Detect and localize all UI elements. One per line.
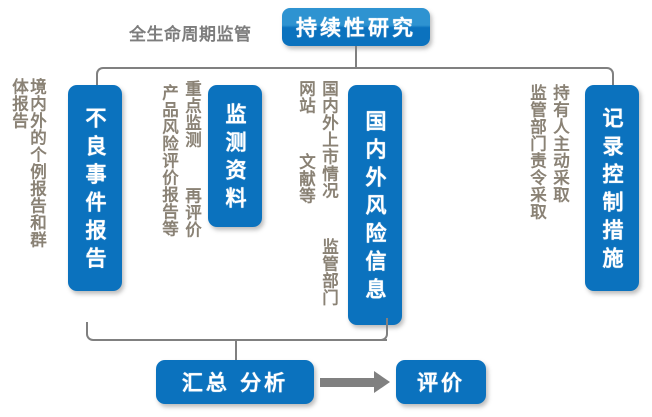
node-risk-information[interactable]: 国内外风险信息 [348,85,402,325]
arrow-head-icon [374,371,390,393]
node-summary-analysis[interactable]: 汇总 分析 [156,360,314,404]
node-record-control-measures[interactable]: 记录控制措施 [585,85,639,291]
caption-branch3-line2: 网站 文献等 [297,80,314,220]
caption-branch3-line1: 国内外上市情况 监管部门 [320,80,337,330]
arrow-shaft [320,378,376,387]
connector-bottom-right-riser [386,318,388,328]
connector-top-bracket [103,67,607,69]
caption-branch2-line2: 产品风险评价报告等 [160,84,177,279]
connector-bottom-bracket [93,339,387,341]
flow-arrow [320,371,392,393]
caption-branch4-line2: 监管部门责令采取 [528,84,545,234]
root-node-continuous-research[interactable]: 持续性研究 [282,8,430,46]
node-monitoring-data[interactable]: 监测资料 [208,85,262,227]
node-evaluation[interactable]: 评价 [396,360,486,404]
node-adverse-event-report[interactable]: 不良事件报告 [68,85,122,291]
connector-root-drop [355,46,357,68]
lifecycle-supervision-label: 全生命周期监管 [129,20,252,45]
connector-summary-drop [235,339,237,360]
diagram-canvas: 全生命周期监管 持续性研究 境内外的个例报告和群 体报告 不良事件报告 重点监测… [0,0,652,417]
caption-branch2-line1: 重点监测 再评价 [183,80,200,230]
caption-branch1-line1: 境内外的个例报告和群 [28,78,45,288]
caption-branch4-line1: 持有人主动采取 [551,84,568,234]
caption-branch1-line2: 体报告 [10,78,27,148]
